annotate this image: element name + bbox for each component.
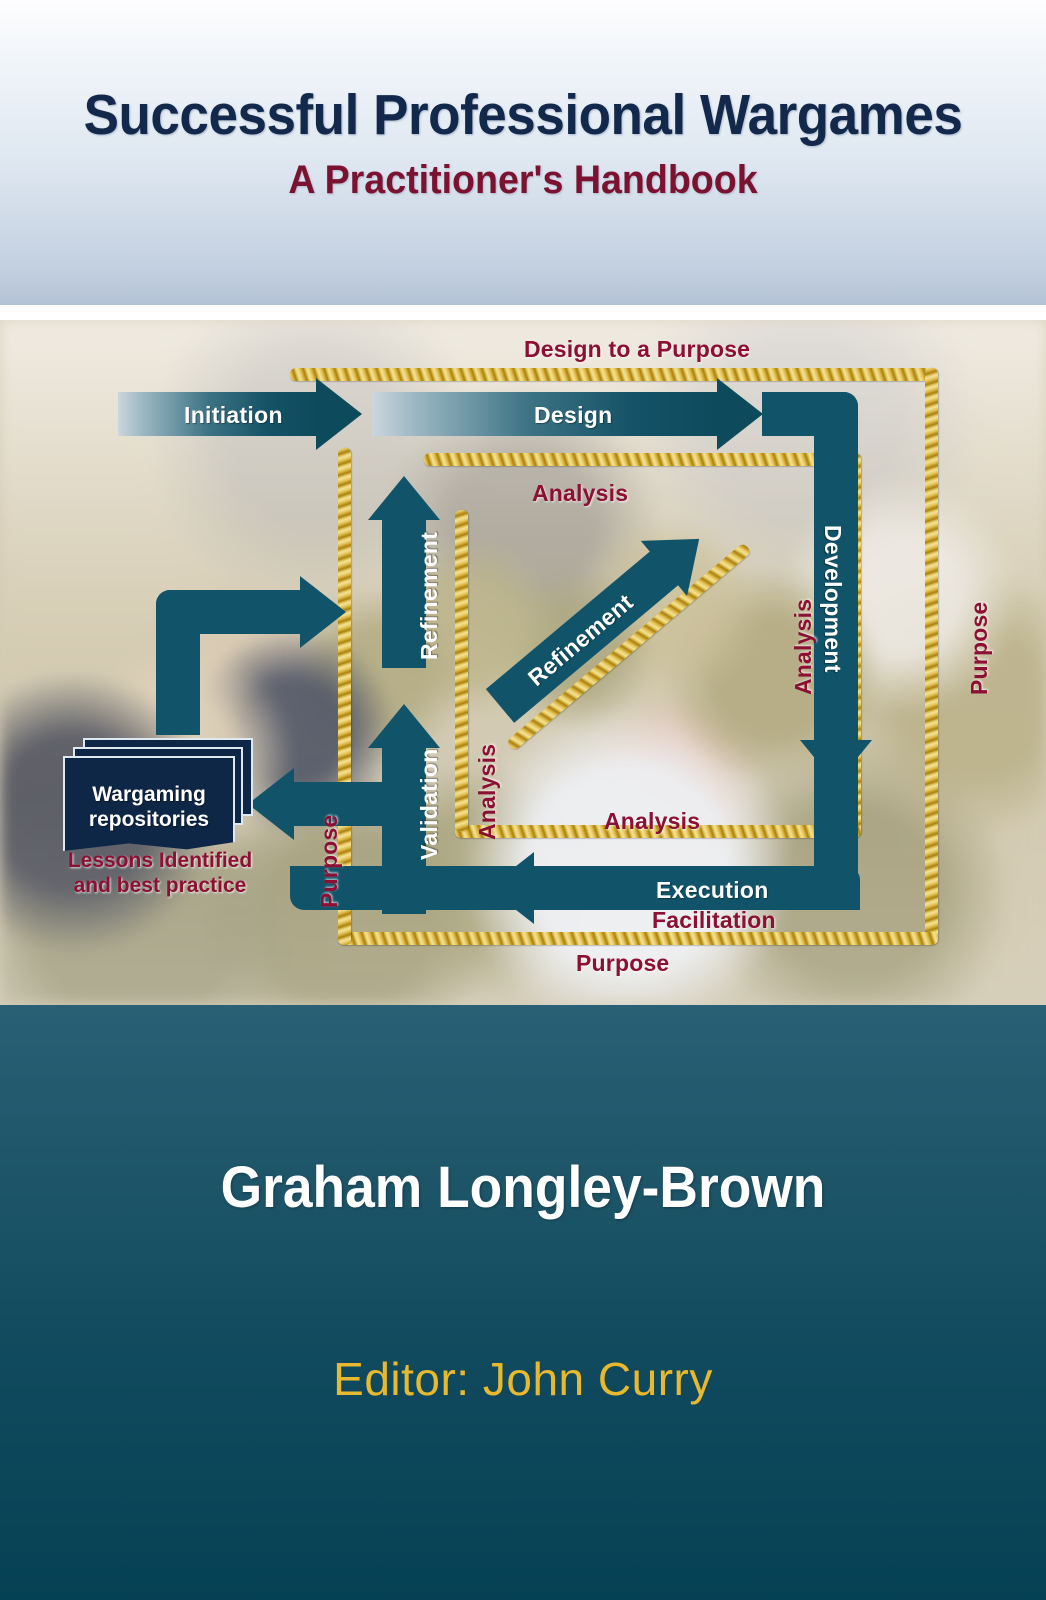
book-title: Successful Professional Wargames xyxy=(37,82,1010,148)
inner-rope-left xyxy=(455,510,468,832)
label-design-to-a-purpose: Design to a Purpose xyxy=(524,336,750,363)
label-analysis-left: Analysis xyxy=(474,744,501,840)
cover-photo-diagram-panel: Initiation Design Development Execution … xyxy=(0,320,1046,1005)
label-refinement-vertical: Refinement xyxy=(416,532,443,660)
label-facilitation: Facilitation xyxy=(652,907,776,934)
label-initiation: Initiation xyxy=(184,402,283,429)
label-analysis-top: Analysis xyxy=(532,480,628,507)
label-purpose-bottom: Purpose xyxy=(576,950,669,977)
validation-arrow-head xyxy=(368,704,440,748)
design-arrow-head xyxy=(717,378,763,450)
caption-line2: and best practice xyxy=(74,874,247,897)
label-design: Design xyxy=(534,402,612,429)
book-subtitle: A Practitioner's Handbook xyxy=(31,158,1014,203)
label-analysis-right: Analysis xyxy=(790,599,817,695)
refinement-vertical-head xyxy=(368,476,440,520)
label-purpose-left: Purpose xyxy=(316,815,343,908)
feedback-left-horizontal xyxy=(156,590,302,634)
repo-label-line1: Wargaming xyxy=(92,783,206,806)
lessons-arrow-head xyxy=(248,768,294,840)
outer-rope-top xyxy=(290,368,938,381)
author-band xyxy=(0,1005,1046,1600)
feedback-left-head xyxy=(300,576,346,648)
label-execution: Execution xyxy=(656,877,769,904)
label-analysis-diagonal: Analysis xyxy=(604,808,700,835)
label-development: Development xyxy=(819,525,846,673)
lessons-arrow-shaft xyxy=(290,782,410,826)
outer-rope-right xyxy=(925,368,938,945)
outer-rope-bottom xyxy=(338,932,938,945)
initiation-arrow-head xyxy=(316,378,362,450)
lessons-identified-caption: Lessons Identified and best practice xyxy=(40,848,280,898)
title-photo-divider xyxy=(0,305,1046,320)
inner-rope-top xyxy=(424,453,860,466)
label-validation: Validation xyxy=(416,748,443,860)
repo-label: Wargaming repositories xyxy=(63,783,235,833)
book-cover: Successful Professional Wargames A Pract… xyxy=(0,0,1046,1600)
label-purpose-right: Purpose xyxy=(966,602,993,695)
repo-label-line2: repositories xyxy=(89,808,209,831)
wargaming-repositories-stack: Wargaming repositories xyxy=(63,738,253,833)
author-name: Graham Longley-Brown xyxy=(42,1154,1004,1221)
title-band: Successful Professional Wargames A Pract… xyxy=(0,0,1046,305)
editor-credit: Editor: John Curry xyxy=(0,1352,1046,1406)
caption-line1: Lessons Identified xyxy=(68,849,252,872)
